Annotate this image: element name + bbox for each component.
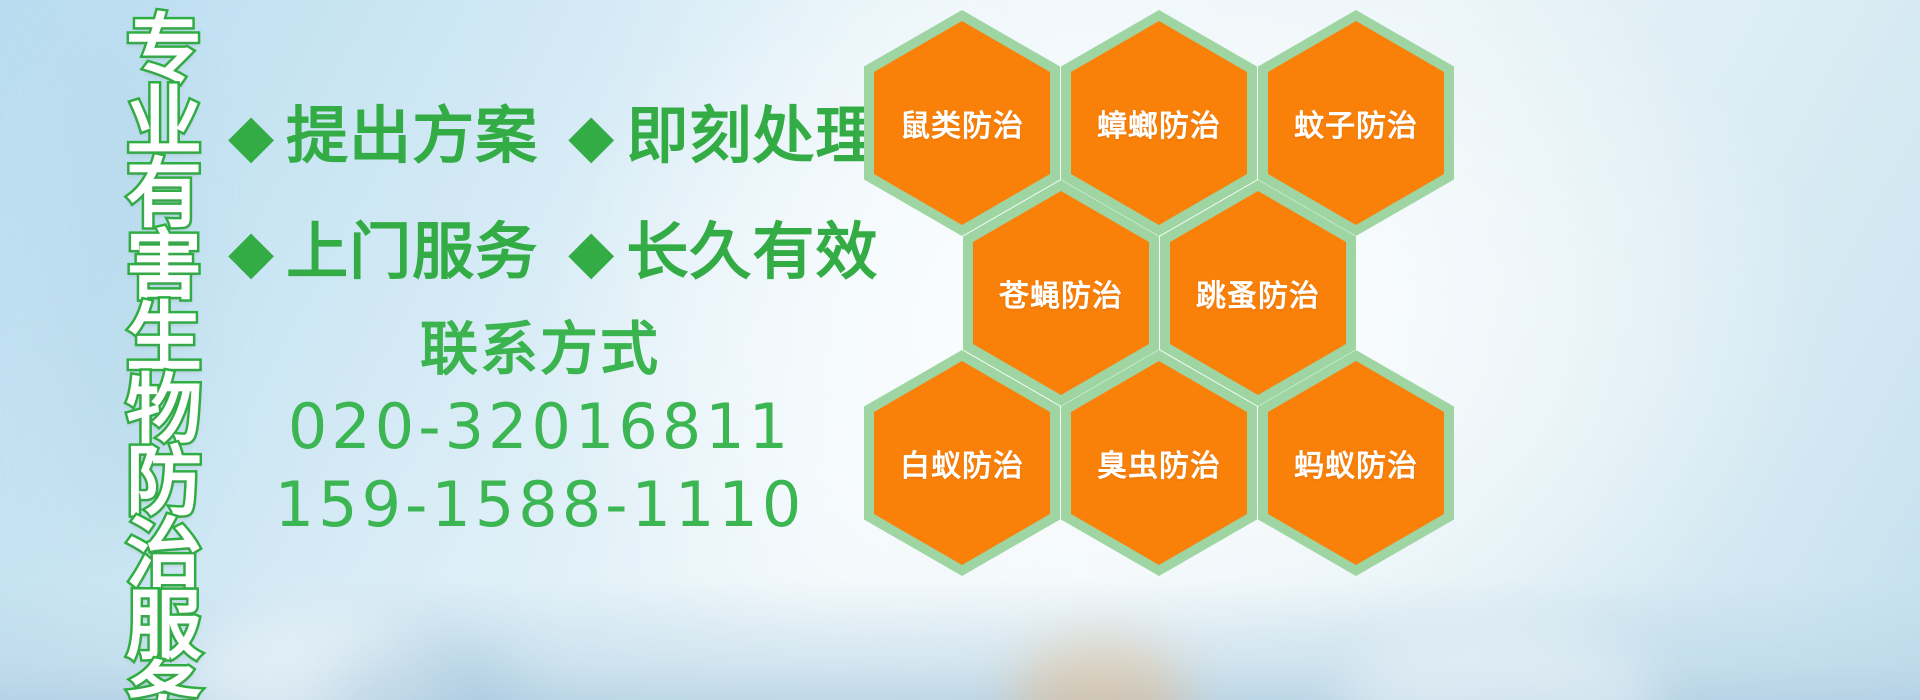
headline-char: 治 [126,518,202,590]
headline-char: 有 [126,158,202,230]
headline-char: 物 [126,374,202,446]
headline-char: 服 [126,590,202,662]
phone-number-mobile[interactable]: 159-1588-1110 [230,466,850,544]
diamond-bullet-icon: ◆ [568,106,614,166]
vertical-headline: 专 业 有 害 生 物 防 治 服 务 [108,14,220,674]
feature-item-onsite-service: ◆ 上门服务 [228,219,538,285]
feature-item-propose-plan: ◆ 提出方案 [228,103,538,169]
feature-label: 长久有效 [626,219,878,285]
service-label: 白蚁防治 [900,441,1024,485]
feature-row: ◆ 上门服务 ◆ 长久有效 [228,194,868,310]
headline-char: 害 [126,230,202,302]
headline-char: 生 [126,302,202,374]
contact-block: 联系方式 020-32016811 159-1588-1110 [230,310,850,544]
contact-title: 联系方式 [230,310,850,388]
headline-char: 专 [126,14,202,86]
service-label: 蚂蚁防治 [1294,441,1418,485]
service-label: 蟑螂防治 [1097,101,1221,145]
diamond-bullet-icon: ◆ [228,106,274,166]
service-hexagon-grid: 鼠类防治 蟑螂防治 蚊子防治 苍蝇防治 跳蚤防治 白蚁防治 臭虫防治 蚂蚁 [858,0,1458,700]
headline-char: 务 [126,662,202,700]
phone-number-landline[interactable]: 020-32016811 [230,388,850,466]
feature-label: 上门服务 [286,219,538,285]
service-label: 鼠类防治 [900,101,1024,145]
feature-label: 即刻处理 [626,103,878,169]
service-label: 跳蚤防治 [1196,271,1320,315]
headline-char: 业 [126,86,202,158]
feature-item-immediate-treatment: ◆ 即刻处理 [568,103,878,169]
service-label: 蚊子防治 [1294,101,1418,145]
diamond-bullet-icon: ◆ [568,222,614,282]
service-label: 苍蝇防治 [999,271,1123,315]
headline-char: 防 [126,446,202,518]
feature-label: 提出方案 [286,103,538,169]
diamond-bullet-icon: ◆ [228,222,274,282]
feature-item-long-lasting: ◆ 长久有效 [568,219,878,285]
feature-row: ◆ 提出方案 ◆ 即刻处理 [228,78,868,194]
background-blob-blue-left [330,640,530,700]
feature-list: ◆ 提出方案 ◆ 即刻处理 ◆ 上门服务 ◆ 长久有效 [228,78,868,310]
pest-control-banner: 专 业 有 害 生 物 防 治 服 务 ◆ 提出方案 ◆ 即刻处理 ◆ 上门服务 [0,0,1920,700]
service-label: 臭虫防治 [1097,441,1221,485]
